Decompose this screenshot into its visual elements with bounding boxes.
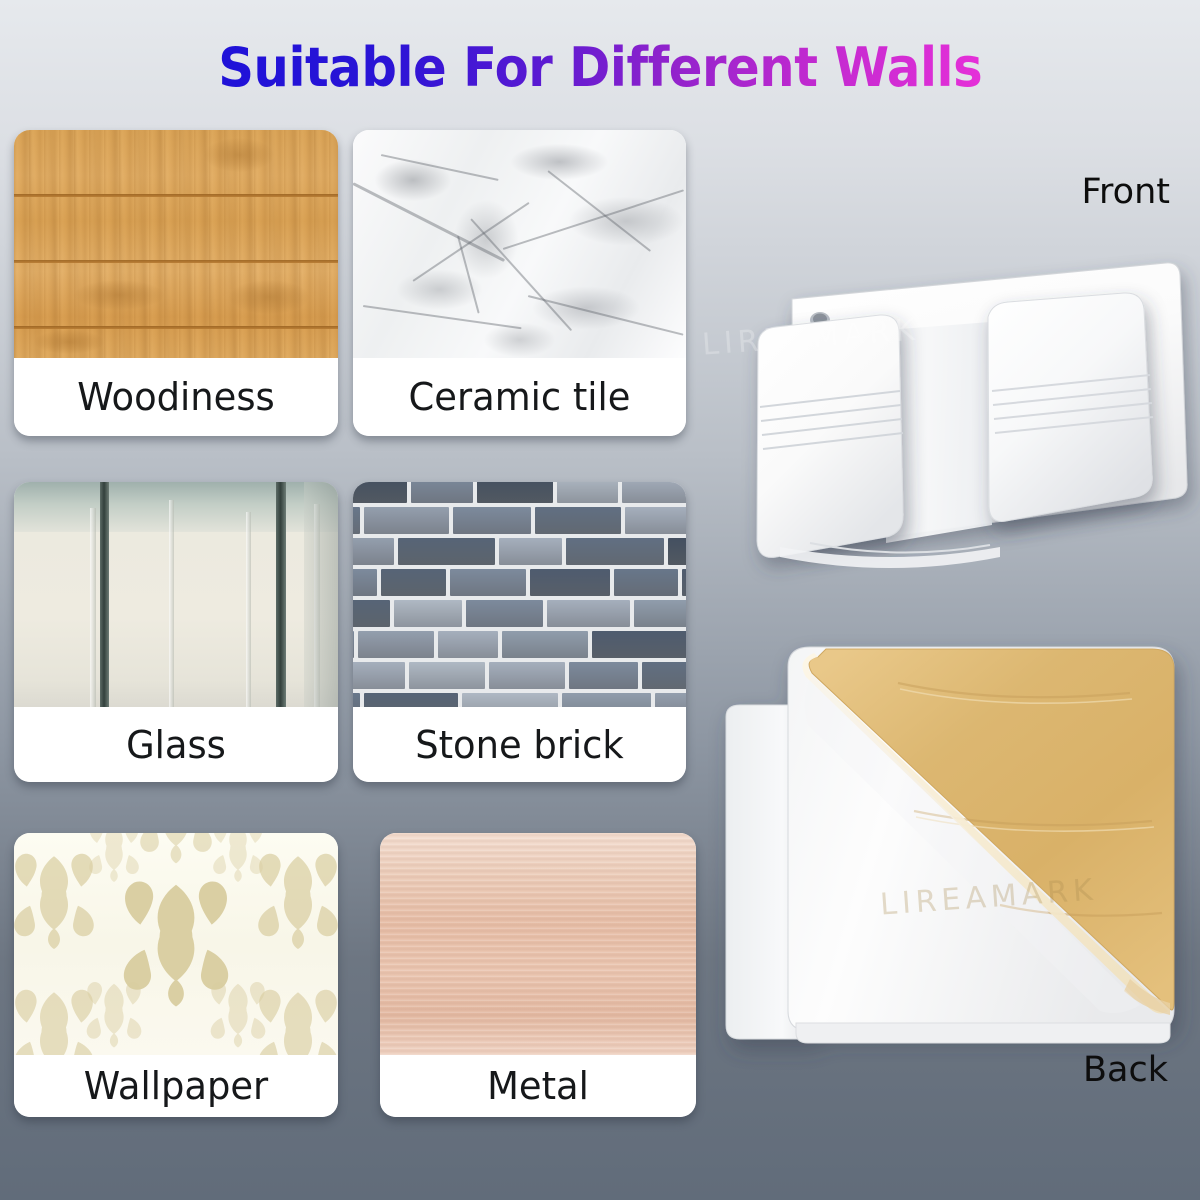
brick-unit: [535, 507, 621, 534]
brick-unit: [381, 569, 446, 596]
brick-unit: [502, 631, 588, 658]
brick-unit: [466, 600, 543, 627]
glass-swatch-image: [14, 482, 338, 707]
glass-caption-bar: Glass: [14, 707, 338, 782]
brick-unit: [569, 662, 638, 689]
brick-unit: [450, 569, 526, 596]
product-photo-back: [700, 605, 1200, 1075]
page-title: Suitable For Different Walls: [218, 36, 982, 99]
surface-card-label: Ceramic tile: [358, 375, 681, 419]
surface-card-wood: Woodiness: [14, 130, 338, 436]
brick-unit: [625, 507, 686, 534]
surface-card-brick: Stone brick: [353, 482, 686, 782]
brick-unit: [614, 569, 678, 596]
surface-card-label: Stone brick: [358, 723, 681, 767]
surface-card-label: Woodiness: [19, 375, 333, 419]
title-bar: Suitable For Different Walls: [0, 36, 1200, 99]
brick-unit: [634, 600, 686, 627]
pocket-right: [988, 293, 1152, 522]
metal-caption-bar: Metal: [380, 1055, 696, 1117]
brick-unit: [462, 693, 558, 707]
brick-unit: [557, 482, 618, 503]
brick-unit: [353, 569, 377, 596]
brick-unit: [353, 507, 360, 534]
brick-caption-bar: Stone brick: [353, 707, 686, 782]
surface-card-label: Wallpaper: [19, 1064, 333, 1108]
brick-unit: [411, 482, 473, 503]
surface-card-ceramic: Ceramic tile: [353, 130, 686, 436]
brick-unit: [438, 631, 498, 658]
brick-unit: [353, 693, 360, 707]
surface-card-label: Glass: [19, 723, 333, 767]
wood-caption-bar: Woodiness: [14, 358, 338, 436]
surface-card-metal: Metal: [380, 833, 696, 1117]
surface-card-wallpaper: Wallpaper: [14, 833, 338, 1117]
brick-unit: [358, 631, 434, 658]
brick-unit: [477, 482, 553, 503]
brick-unit: [566, 538, 664, 565]
surface-card-label: Metal: [385, 1064, 692, 1108]
brick-unit: [547, 600, 630, 627]
brick-unit: [592, 631, 686, 658]
brick-unit: [682, 569, 686, 596]
brick-unit: [353, 482, 407, 503]
brick-unit: [353, 631, 354, 658]
ceramic-swatch-image: [353, 130, 686, 358]
brick-unit: [409, 662, 485, 689]
ceramic-caption-bar: Ceramic tile: [353, 358, 686, 436]
brick-unit: [398, 538, 495, 565]
brick-unit: [453, 507, 531, 534]
brick-unit: [655, 693, 686, 707]
wood-swatch-image: [14, 130, 338, 358]
brick-unit: [668, 538, 686, 565]
brick-unit: [499, 538, 562, 565]
brick-unit: [489, 662, 565, 689]
brick-unit: [562, 693, 651, 707]
brick-unit: [353, 538, 394, 565]
wallpaper-swatch-image: [14, 833, 338, 1055]
brick-swatch-image: [353, 482, 686, 707]
brick-unit: [530, 569, 610, 596]
brick-unit: [364, 507, 449, 534]
brick-unit: [622, 482, 686, 503]
brick-unit: [394, 600, 462, 627]
brick-unit: [353, 600, 390, 627]
product-photo-front: [700, 195, 1200, 595]
brick-unit: [642, 662, 686, 689]
brick-unit: [364, 693, 458, 707]
wallpaper-caption-bar: Wallpaper: [14, 1055, 338, 1117]
surface-card-glass: Glass: [14, 482, 338, 782]
brick-unit: [353, 662, 405, 689]
damask-pattern: [14, 833, 338, 1055]
metal-swatch-image: [380, 833, 696, 1055]
